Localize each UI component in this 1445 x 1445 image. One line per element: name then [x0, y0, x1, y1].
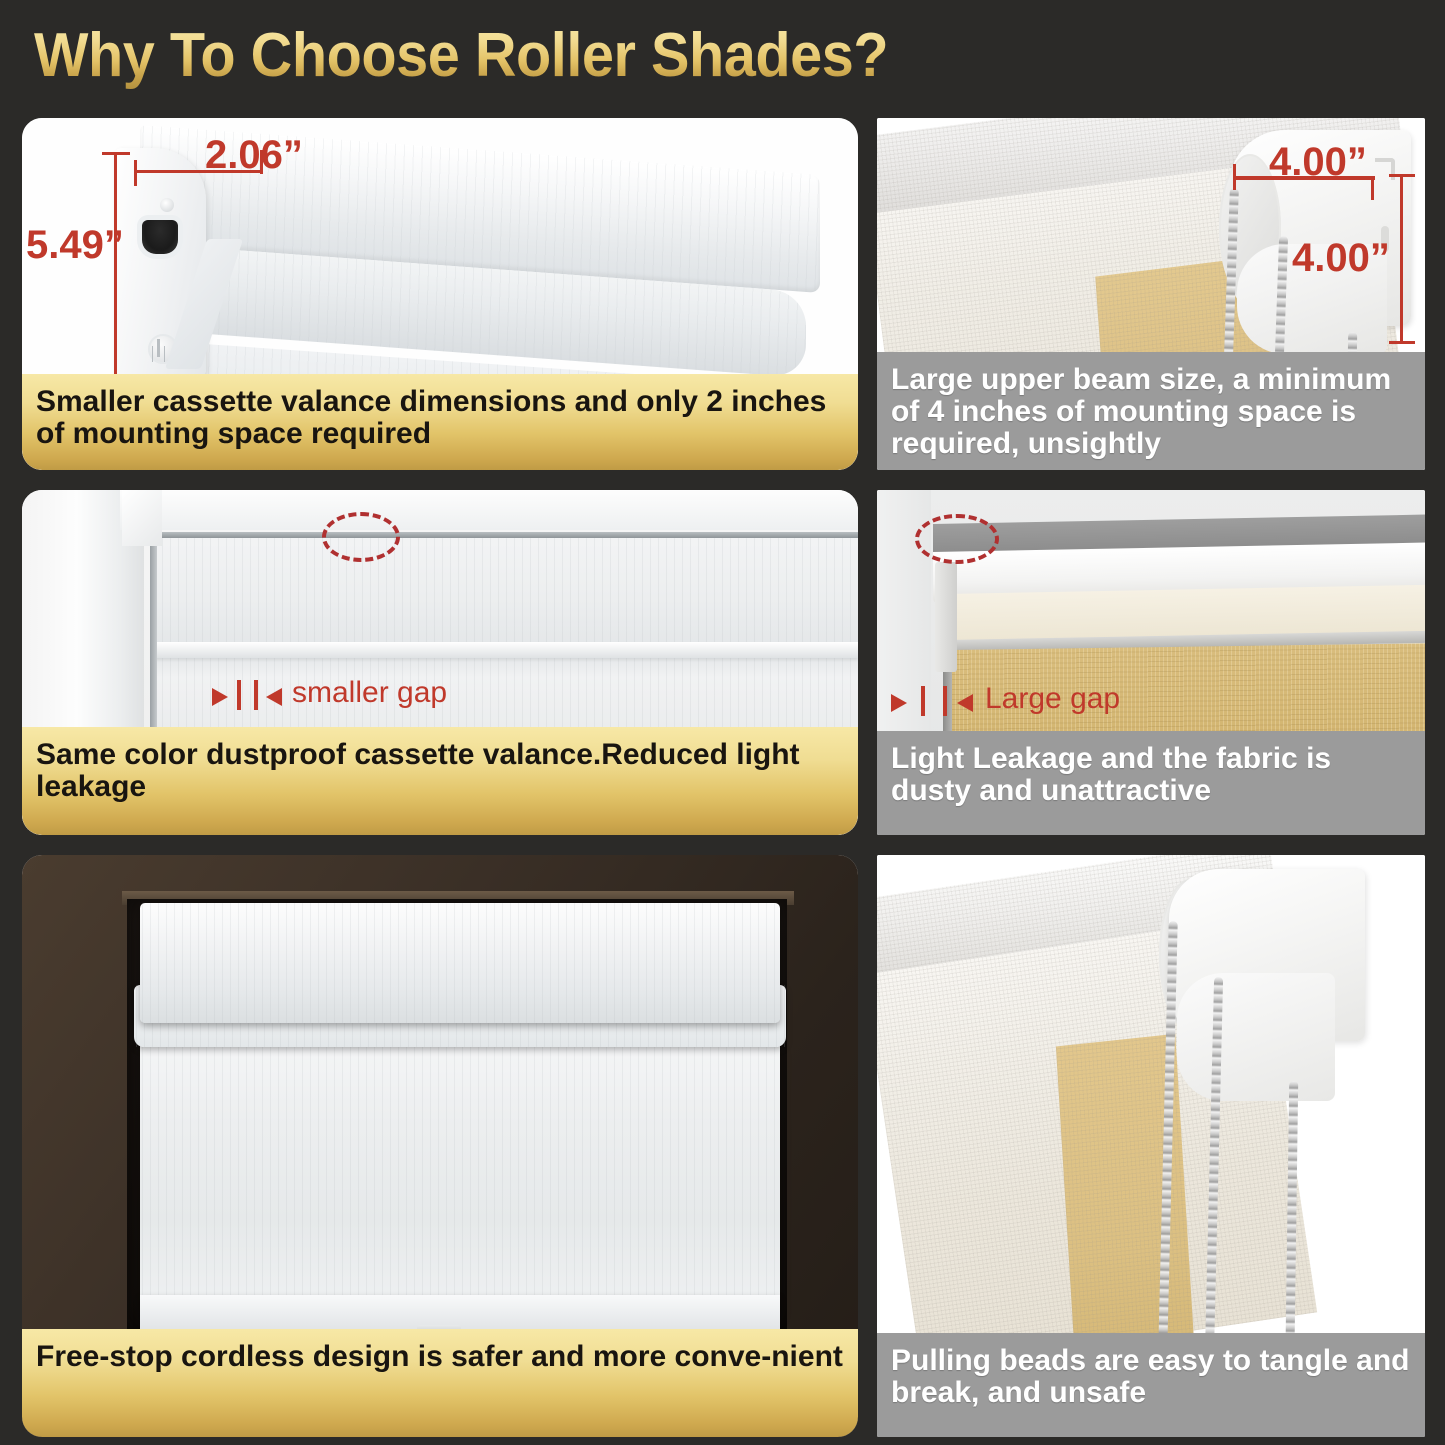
- beam-height-tick-top: [1389, 174, 1415, 177]
- shade-bottom-bar: [140, 1295, 780, 1329]
- caption-top-right: Large upper beam size, a minimum of 4 in…: [877, 352, 1425, 470]
- gap-arrow-right-icon: [891, 694, 907, 712]
- panel-bottom-right: Pulling beads are easy to tangle and bre…: [877, 855, 1425, 1437]
- caption-middle-right: Light Leakage and the fabric is dusty an…: [877, 731, 1425, 835]
- cassette-valance: [140, 903, 780, 1023]
- page-title: Why To Choose Roller Shades?: [34, 20, 888, 91]
- endcap-rivet-icon: [160, 198, 174, 212]
- shade-mid-rail: [152, 642, 858, 658]
- panel-top-left: 2.06” 5.49” Smaller cassette valance dim…: [22, 118, 858, 470]
- title-bar: Why To Choose Roller Shades?: [0, 0, 1445, 110]
- width-dimension-label: 2.06”: [205, 133, 303, 178]
- height-dim-tick-top: [102, 152, 130, 155]
- beam-height-line: [1400, 174, 1403, 344]
- infographic-page: Why To Choose Roller Shades?: [0, 0, 1445, 1445]
- window-frame-corner: [122, 490, 162, 546]
- valance-end-cap: [114, 148, 206, 376]
- height-dimension-label: 5.49”: [26, 223, 124, 268]
- beam-width-tick-right: [1371, 176, 1374, 200]
- window-frame-top: [120, 490, 858, 530]
- highlight-circle-icon: [915, 514, 999, 564]
- panel-bottom-left: Free-stop cordless design is safer and m…: [22, 855, 858, 1437]
- gap-arrow-left-icon: [957, 694, 973, 712]
- gap-mark-left: [921, 686, 925, 716]
- caption-middle-left: Same color dustproof cassette valance.Re…: [22, 727, 858, 835]
- caption-bottom-right: Pulling beads are easy to tangle and bre…: [877, 1333, 1425, 1437]
- mounting-bracket: [935, 562, 957, 672]
- caption-bottom-left: Free-stop cordless design is safer and m…: [22, 1329, 858, 1437]
- gap-arrow-left-icon: [266, 688, 282, 706]
- panel-middle-left: smaller gap Same color dustproof cassett…: [22, 490, 858, 835]
- width-dim-tick-left: [134, 160, 137, 186]
- endcap-screw-icon: [148, 334, 178, 364]
- gap-mark-right: [943, 686, 947, 716]
- beam-height-label: 4.00”: [1292, 236, 1390, 281]
- smaller-gap-label: smaller gap: [292, 676, 447, 710]
- beam-height-tick-bottom: [1389, 341, 1415, 344]
- panel-grid: 2.06” 5.49” Smaller cassette valance dim…: [0, 110, 1445, 1445]
- gap-mark-right: [254, 680, 258, 710]
- gap-arrow-right-icon: [212, 688, 228, 706]
- shade-fabric: [140, 1045, 780, 1315]
- highlight-circle-icon: [322, 512, 400, 562]
- cassette-top-edge: [150, 532, 858, 538]
- panel-top-right: 4.00” 4.00” Large upper beam size, a min…: [877, 118, 1425, 470]
- beam-end-cap-lower: [1177, 973, 1335, 1101]
- gap-mark-left: [237, 680, 241, 710]
- panel-middle-right: Large gap Light Leakage and the fabric i…: [877, 490, 1425, 835]
- large-gap-label: Large gap: [985, 682, 1120, 716]
- beam-width-label: 4.00”: [1269, 140, 1367, 185]
- endcap-slot-icon: [142, 220, 178, 254]
- caption-top-left: Smaller cassette valance dimensions and …: [22, 374, 858, 470]
